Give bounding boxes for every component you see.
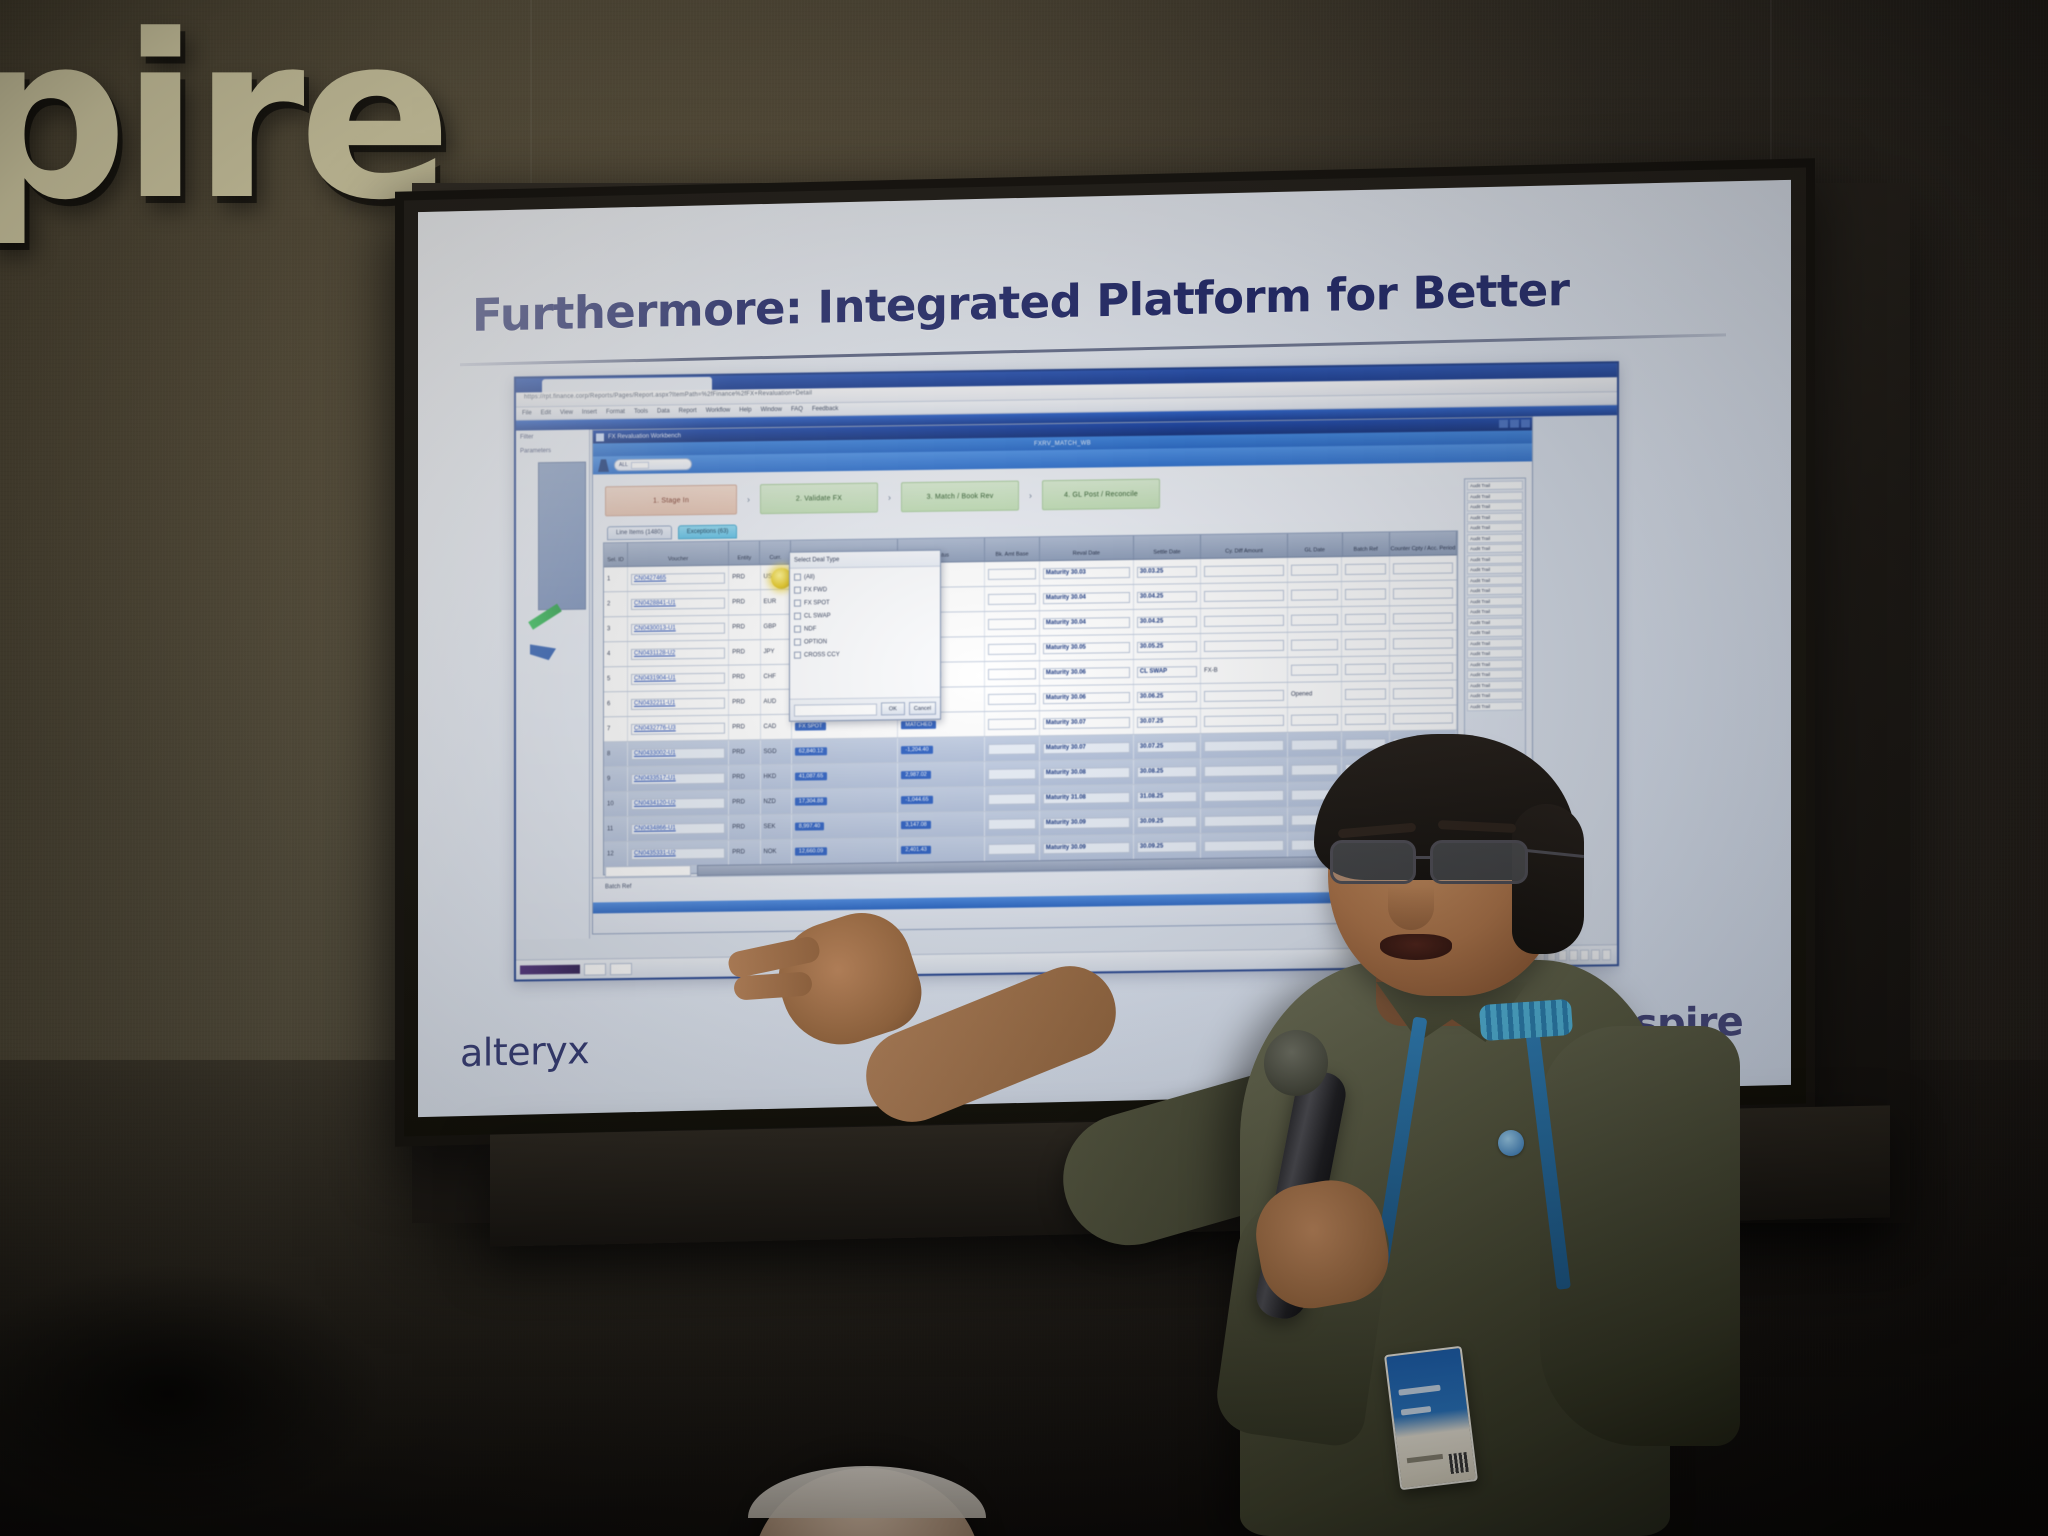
checkbox-icon[interactable]	[794, 652, 801, 659]
list-item[interactable]: Audit Trail	[1467, 533, 1523, 543]
cell-box[interactable]	[1345, 638, 1385, 650]
table-cell[interactable]: 41,087.65	[792, 763, 899, 788]
table-cell[interactable]: PRD	[729, 590, 760, 614]
table-cell[interactable]: Maturity 30.04	[1040, 610, 1134, 635]
dropdown-footer: OK Cancel	[790, 697, 940, 721]
cell-box[interactable]	[988, 618, 1036, 630]
table-cell[interactable]: PRD	[729, 740, 760, 764]
table-cell[interactable]: PRD	[729, 840, 760, 864]
voucher-link[interactable]: CN0435331-U2	[634, 850, 676, 857]
voucher-link[interactable]: CN0433517-U1	[634, 775, 676, 782]
cell-box[interactable]	[988, 718, 1036, 730]
menu-item[interactable]: Tools	[634, 409, 648, 415]
table-cell[interactable]: NOK	[761, 840, 792, 864]
table-cell[interactable]: Maturity 30.09	[1040, 835, 1134, 860]
table-cell[interactable]	[1342, 581, 1389, 606]
table-cell[interactable]: CN0433517-U1	[628, 766, 729, 791]
menu-item[interactable]: Report	[679, 408, 697, 414]
table-cell[interactable]	[1390, 630, 1457, 655]
workflow-step-1[interactable]: 1. Stage In	[605, 484, 737, 516]
cell-box[interactable]: Maturity 30.03	[1043, 567, 1130, 579]
table-cell[interactable]: Maturity 30.06	[1040, 660, 1134, 685]
table-cell[interactable]: -1,204.40	[898, 737, 985, 762]
cell-box[interactable]: CN0433002-U1	[631, 747, 725, 759]
checkbox-icon[interactable]	[794, 587, 801, 594]
cell-box[interactable]	[1204, 714, 1284, 726]
list-item[interactable]: Audit Trail	[1467, 596, 1523, 606]
checkbox-icon[interactable]	[794, 639, 801, 646]
cell-box[interactable]	[1345, 563, 1385, 575]
table-cell[interactable]: 30.04.25	[1134, 609, 1201, 634]
table-cell[interactable]: CN0428841-U1	[628, 591, 729, 616]
table-cell[interactable]: PRD	[729, 640, 760, 664]
table-cell[interactable]: 1	[604, 567, 628, 591]
table-cell[interactable]: 62,840.12	[792, 738, 899, 763]
cell-box[interactable]: Maturity 30.09	[1043, 817, 1130, 829]
cell-box[interactable]	[1393, 712, 1453, 724]
menu-item[interactable]: Format	[606, 409, 625, 415]
cell-box[interactable]	[1291, 639, 1339, 651]
cell-box[interactable]: Maturity 30.06	[1043, 692, 1130, 704]
badge-line	[1398, 1385, 1440, 1396]
dropdown-option-label: (All)	[804, 574, 815, 580]
dropdown-cancel-button[interactable]: Cancel	[909, 702, 936, 715]
cell-box[interactable]	[1393, 587, 1453, 599]
list-item[interactable]: Audit Trail	[1467, 628, 1523, 638]
menu-item[interactable]: Window	[761, 407, 782, 413]
voucher-link[interactable]: CN0432211-U1	[634, 700, 675, 707]
checkbox-icon[interactable]	[794, 574, 801, 581]
dropdown-search-input[interactable]	[794, 703, 877, 716]
presenter-nose	[1388, 886, 1434, 930]
table-cell[interactable]	[985, 561, 1040, 586]
table-cell[interactable]: 30.05.25	[1134, 634, 1201, 659]
cell-box[interactable]: CN0433517-U1	[631, 772, 725, 784]
column-header[interactable]: GL Date	[1288, 533, 1343, 557]
list-item[interactable]: Audit Trail	[1467, 575, 1523, 585]
table-cell[interactable]: Maturity 30.07	[1040, 710, 1134, 735]
cell-box[interactable]	[1291, 564, 1339, 576]
cell-value: CAD	[764, 724, 777, 730]
list-item-label: Audit Trail	[1470, 514, 1490, 519]
table-cell[interactable]	[1201, 558, 1288, 583]
list-item[interactable]: Audit Trail	[1467, 502, 1523, 512]
column-header[interactable]: Entity	[729, 541, 760, 564]
table-cell[interactable]: PRD	[729, 565, 760, 589]
cell-box[interactable]	[1291, 614, 1339, 626]
table-cell[interactable]: CAD	[761, 715, 792, 739]
table-cell[interactable]: Maturity 30.05	[1040, 635, 1134, 660]
table-cell[interactable]: Maturity 30.03	[1040, 560, 1134, 585]
eyeglasses-icon	[1326, 840, 1576, 886]
table-cell[interactable]	[985, 686, 1040, 711]
dropdown-option[interactable]: CROSS CCY	[794, 647, 936, 662]
table-cell[interactable]: 9	[604, 767, 628, 791]
cell-box[interactable]	[1345, 713, 1385, 725]
cell-box[interactable]: CN0434120-U2	[631, 797, 725, 809]
chevron-right-icon: ›	[747, 494, 750, 504]
menu-item[interactable]: File	[522, 410, 532, 416]
list-item[interactable]: Audit Trail	[1467, 670, 1523, 680]
list-item[interactable]: Audit Trail	[1467, 607, 1523, 617]
cell-box[interactable]	[988, 593, 1036, 605]
cell-box[interactable]: CN0431128-U2	[631, 647, 725, 659]
cell-box[interactable]	[988, 818, 1036, 830]
list-item[interactable]: Audit Trail	[1467, 649, 1523, 659]
column-header[interactable]: Batch Ref	[1343, 532, 1390, 556]
table-cell[interactable]: CN0434120-U2	[628, 791, 729, 816]
table-cell[interactable]: 17,304.88	[792, 788, 899, 813]
table-cell[interactable]	[1390, 680, 1457, 705]
table-cell[interactable]	[985, 661, 1040, 686]
cell-box[interactable]	[1345, 688, 1385, 700]
cell-box[interactable]	[1345, 663, 1385, 675]
cell-box[interactable]	[1291, 714, 1339, 726]
table-cell[interactable]: CHF	[761, 665, 792, 689]
table-cell[interactable]: 5	[604, 667, 628, 691]
table-cell[interactable]: 10	[604, 792, 628, 816]
table-cell[interactable]: NZD	[761, 790, 792, 814]
list-item[interactable]: Audit Trail	[1467, 680, 1523, 690]
cell-box[interactable]: CN0430013-U1	[631, 622, 725, 634]
cell-box[interactable]: CN0434866-U1	[631, 822, 725, 834]
table-cell[interactable]	[985, 811, 1040, 836]
table-cell[interactable]: JPY	[761, 640, 792, 664]
table-cell[interactable]	[985, 611, 1040, 636]
voucher-link[interactable]: CN0427465	[634, 575, 666, 581]
list-item[interactable]: Audit Trail	[1467, 659, 1523, 669]
list-item[interactable]: Audit Trail	[1467, 565, 1523, 575]
cell-value: EUR	[764, 599, 777, 605]
menu-item[interactable]: Workflow	[706, 408, 731, 414]
workflow-step-3[interactable]: 3. Match / Book Rev	[901, 481, 1019, 513]
voucher-link[interactable]: CN0432776-U3	[634, 725, 676, 732]
filter-icon[interactable]	[598, 459, 609, 472]
table-cell[interactable]: PRD	[729, 615, 760, 639]
table-cell[interactable]: CN0432776-U3	[628, 716, 729, 741]
table-cell[interactable]: 30.06.25	[1134, 684, 1201, 709]
table-cell[interactable]	[1342, 606, 1389, 631]
cell-box[interactable]	[1393, 662, 1453, 674]
batch-ref-input[interactable]	[605, 865, 691, 877]
table-cell[interactable]: CL SWAP	[1134, 659, 1201, 684]
table-cell[interactable]	[1201, 633, 1288, 658]
cell-value: 9	[607, 776, 610, 782]
cell-box[interactable]: CN0432211-U1	[631, 697, 725, 709]
cell-box[interactable]: CN0428841-U1	[631, 597, 725, 609]
table-cell[interactable]	[1288, 607, 1343, 632]
voucher-link[interactable]: CN0433002-U1	[634, 750, 676, 757]
list-item-label: Audit Trail	[1470, 661, 1490, 666]
table-cell[interactable]	[985, 711, 1040, 736]
list-item[interactable]: Audit Trail	[1467, 512, 1523, 522]
table-cell[interactable]: SGD	[761, 740, 792, 764]
cell-box[interactable]	[988, 768, 1036, 780]
table-cell[interactable]: 3,147.08	[898, 812, 985, 837]
checkbox-icon[interactable]	[794, 613, 801, 620]
dropdown-ok-button[interactable]: OK	[881, 702, 905, 715]
cell-box[interactable]	[988, 643, 1036, 655]
checkbox-icon[interactable]	[794, 626, 801, 633]
table-cell[interactable]: 6	[604, 692, 628, 716]
cell-box[interactable]: Maturity 30.04	[1043, 592, 1130, 604]
cell-box[interactable]: CN0427465	[631, 572, 725, 584]
table-cell[interactable]: FX-B	[1201, 658, 1288, 683]
list-item[interactable]: Audit Trail	[1467, 491, 1523, 501]
table-cell[interactable]: Maturity 30.06	[1040, 685, 1134, 710]
menu-item[interactable]: Help	[739, 407, 751, 413]
cell-box[interactable]	[1291, 664, 1339, 676]
cell-value: PRD	[732, 699, 745, 705]
list-item[interactable]: Audit Trail	[1467, 544, 1523, 554]
table-cell[interactable]: CN0431904-U1	[628, 666, 729, 691]
cell-box[interactable]	[988, 743, 1036, 755]
table-cell[interactable]: 7	[604, 717, 628, 741]
cell-box[interactable]: Maturity 31.08	[1043, 792, 1130, 804]
cell-box[interactable]	[988, 668, 1036, 680]
menu-item[interactable]: Data	[657, 408, 670, 414]
cell-box[interactable]: CN0435331-U2	[631, 847, 725, 859]
status-badge: 62,840.12	[795, 747, 827, 755]
menu-item[interactable]: View	[560, 410, 573, 416]
table-cell[interactable]	[1342, 706, 1389, 731]
table-cell[interactable]	[985, 586, 1040, 611]
table-cell[interactable]: 2,401.43	[898, 837, 985, 862]
cell-box[interactable]: CN0431904-U1	[631, 672, 725, 684]
column-header[interactable]: Voucher	[628, 542, 729, 566]
column-header[interactable]: Reval Date	[1040, 536, 1134, 560]
table-cell[interactable]: SEK	[761, 815, 792, 839]
cell-value: 7	[607, 726, 610, 732]
table-cell[interactable]	[985, 761, 1040, 786]
table-cell[interactable]: Maturity 30.04	[1040, 585, 1134, 610]
table-cell[interactable]	[985, 786, 1040, 811]
table-cell[interactable]: CN0435331-U2	[628, 841, 729, 866]
cell-box[interactable]	[1204, 614, 1284, 626]
table-cell[interactable]: PRD	[729, 715, 760, 739]
table-cell[interactable]: HKD	[761, 765, 792, 789]
close-icon[interactable]	[1521, 419, 1530, 427]
list-item[interactable]: Audit Trail	[1467, 701, 1523, 711]
table-cell[interactable]: Maturity 31.08	[1040, 785, 1134, 810]
cell-box[interactable]	[988, 793, 1036, 805]
table-cell[interactable]: CN0431128-U2	[628, 641, 729, 666]
table-cell[interactable]: 30.03.25	[1134, 559, 1201, 584]
cell-box[interactable]: Maturity 30.06	[1043, 667, 1130, 679]
side-panel-block[interactable]	[538, 462, 586, 611]
table-cell[interactable]: -1,044.65	[898, 787, 985, 812]
table-cell[interactable]	[1288, 657, 1343, 682]
cell-box[interactable]	[1345, 613, 1385, 625]
table-cell[interactable]: EUR	[761, 590, 792, 614]
table-cell[interactable]: GBP	[761, 615, 792, 639]
table-cell[interactable]: 30.04.25	[1134, 584, 1201, 609]
table-cell[interactable]: PRD	[729, 790, 760, 814]
cell-box[interactable]: Maturity 30.08	[1043, 767, 1130, 779]
minimize-icon[interactable]	[1499, 420, 1508, 428]
table-cell[interactable]: CN0434866-U1	[628, 816, 729, 841]
cell-box[interactable]	[1393, 562, 1453, 574]
list-item[interactable]: Audit Trail	[1467, 691, 1523, 701]
cell-box[interactable]: 30.04.25	[1137, 616, 1197, 628]
table-cell[interactable]: 11	[604, 817, 628, 841]
cell-box[interactable]: Maturity 30.07	[1043, 717, 1130, 729]
voucher-link[interactable]: CN0431128-U2	[634, 650, 675, 657]
voucher-link[interactable]: CN0430013-U1	[634, 625, 676, 632]
column-header[interactable]: Bk. Amt Base	[985, 537, 1040, 561]
table-cell[interactable]: CN0432211-U1	[628, 691, 729, 716]
tab-line-items[interactable]: Line Items (1480)	[607, 525, 672, 540]
column-header[interactable]: Cy. Diff Amount	[1201, 534, 1288, 558]
tab-exceptions[interactable]: Exceptions (63)	[678, 524, 738, 539]
table-cell[interactable]: PRD	[729, 765, 760, 789]
table-cell[interactable]	[1390, 705, 1457, 730]
cell-box[interactable]: CN0432776-U3	[631, 722, 725, 734]
voucher-link[interactable]: CN0431904-U1	[634, 675, 676, 682]
cell-box[interactable]	[1393, 637, 1453, 649]
workflow-step-4[interactable]: 4. GL Post / Reconcile	[1042, 479, 1160, 511]
cell-box[interactable]: 30.06.25	[1137, 691, 1197, 703]
table-cell[interactable]	[1288, 557, 1343, 582]
table-cell[interactable]: Maturity 30.07	[1040, 735, 1134, 760]
scope-combobox[interactable]: ALL	[614, 458, 692, 471]
table-cell[interactable]: 8	[604, 742, 628, 766]
cell-box[interactable]	[1393, 612, 1453, 624]
list-item[interactable]: Audit Trail	[1467, 554, 1523, 564]
cell-box[interactable]	[988, 568, 1036, 580]
status-badge: 2,987.02	[901, 771, 930, 779]
table-cell[interactable]	[1342, 681, 1389, 706]
table-cell[interactable]: PRD	[729, 690, 760, 714]
table-cell[interactable]	[1342, 631, 1389, 656]
deal-type-dropdown[interactable]: Select Deal Type (All)FX FWDFX SPOTCL SW…	[789, 550, 941, 722]
list-item[interactable]: Audit Trail	[1467, 523, 1523, 533]
table-cell[interactable]	[1288, 582, 1343, 607]
table-cell[interactable]: Maturity 30.09	[1040, 810, 1134, 835]
taskbar-app-icon[interactable]	[584, 963, 606, 975]
column-header[interactable]: Settle Date	[1134, 535, 1201, 559]
status-badge: MATCHED	[901, 721, 936, 729]
cell-box[interactable]	[1204, 589, 1284, 601]
table-cell[interactable]: 3	[604, 617, 628, 641]
table-cell[interactable]	[1390, 555, 1457, 580]
table-cell[interactable]	[1342, 556, 1389, 581]
list-item[interactable]: Audit Trail	[1467, 617, 1523, 627]
slide-title: Furthermore: Integrated Platform for Bet…	[472, 263, 1569, 342]
menu-item[interactable]: Edit	[541, 410, 551, 416]
table-cell[interactable]: 12,660.09	[792, 838, 899, 863]
status-badge: 2,401.43	[901, 846, 930, 854]
cell-box[interactable]	[1204, 564, 1284, 576]
table-cell[interactable]: 12	[604, 842, 628, 866]
cell-box[interactable]	[988, 843, 1036, 855]
eyeglass-lens	[1330, 840, 1416, 884]
table-cell[interactable]: CN0427465	[628, 566, 729, 591]
checkbox-icon[interactable]	[794, 600, 801, 607]
maximize-icon[interactable]	[1510, 420, 1519, 428]
cell-box[interactable]: CL SWAP	[1137, 666, 1197, 678]
dropdown-option-label: NDF	[804, 626, 816, 632]
chevron-down-icon[interactable]	[631, 461, 649, 468]
list-item[interactable]: Audit Trail	[1467, 481, 1523, 491]
table-cell[interactable]	[1390, 655, 1457, 680]
column-header[interactable]: Counter Cpty / Acc. Period	[1390, 531, 1457, 555]
table-cell[interactable]	[985, 636, 1040, 661]
table-cell[interactable]	[1288, 707, 1343, 732]
column-header[interactable]: Sel. ID	[604, 543, 628, 566]
start-button[interactable]	[520, 965, 580, 975]
cell-box[interactable]: 30.07.25	[1137, 716, 1197, 728]
taskbar-app-icon[interactable]	[610, 962, 632, 974]
table-cell[interactable]	[1390, 580, 1457, 605]
dropdown-option-list[interactable]: (All)FX FWDFX SPOTCL SWAPNDFOPTIONCROSS …	[790, 567, 940, 699]
table-cell[interactable]: PRD	[729, 665, 760, 689]
voucher-link[interactable]: CN0434866-U1	[634, 825, 676, 832]
menu-item[interactable]: Feedback	[812, 406, 838, 412]
dropdown-option-label: CROSS CCY	[804, 652, 840, 658]
table-cell[interactable]: PRD	[729, 815, 760, 839]
list-item-label: Audit Trail	[1470, 619, 1490, 624]
table-cell[interactable]	[1201, 583, 1288, 608]
column-header[interactable]: Curr.	[760, 541, 791, 564]
cell-box[interactable]: 30.05.25	[1137, 641, 1197, 653]
table-cell[interactable]	[1390, 605, 1457, 630]
table-cell[interactable]	[985, 736, 1040, 761]
menu-item[interactable]: Insert	[582, 409, 597, 415]
cell-value: 30.04.25	[1140, 619, 1163, 625]
cell-box[interactable]	[1291, 589, 1339, 601]
cell-box[interactable]	[1345, 588, 1385, 600]
list-item[interactable]: Audit Trail	[1467, 586, 1523, 596]
table-cell[interactable]: AUD	[761, 690, 792, 714]
voucher-link[interactable]: CN0434120-U2	[634, 800, 676, 807]
badge-line	[1401, 1406, 1432, 1416]
menu-item[interactable]: FAQ	[791, 407, 803, 413]
table-cell[interactable]: Opened	[1288, 682, 1343, 707]
cell-box[interactable]	[1393, 687, 1453, 699]
table-cell[interactable]	[1342, 656, 1389, 681]
cell-box[interactable]: Maturity 30.04	[1043, 617, 1130, 629]
table-cell[interactable]: 4	[604, 642, 628, 666]
cell-box[interactable]: Maturity 30.07	[1043, 742, 1130, 754]
table-cell[interactable]	[1288, 632, 1343, 657]
alteryx-logo: alteryx	[460, 1028, 589, 1075]
table-cell[interactable]: 8,997.40	[792, 813, 899, 838]
workflow-step-2[interactable]: 2. Validate FX	[760, 483, 878, 515]
table-cell[interactable]: Maturity 30.08	[1040, 760, 1134, 785]
cell-box[interactable]: 30.04.25	[1137, 591, 1197, 603]
cell-value: 31.08.25	[1140, 794, 1163, 800]
cell-box[interactable]	[988, 693, 1036, 705]
cell-box[interactable]	[1204, 639, 1284, 651]
table-cell[interactable]: CN0433002-U1	[628, 741, 729, 766]
cell-box[interactable]: Maturity 30.05	[1043, 642, 1130, 654]
voucher-link[interactable]: CN0428841-U1	[634, 600, 676, 607]
table-cell[interactable]: 2	[604, 592, 628, 616]
cell-box[interactable]: Maturity 30.09	[1043, 842, 1130, 854]
table-cell[interactable]: 2,987.02	[898, 762, 985, 787]
cell-value: PRD	[732, 624, 745, 630]
table-cell[interactable]	[985, 836, 1040, 861]
table-cell[interactable]	[1201, 683, 1288, 708]
window-controls[interactable]	[1499, 419, 1530, 427]
table-cell[interactable]	[1201, 608, 1288, 633]
cell-box[interactable]: 30.03.25	[1137, 566, 1197, 578]
cell-box[interactable]	[1204, 689, 1284, 701]
table-cell[interactable]: CN0430013-U1	[628, 616, 729, 641]
list-item[interactable]: Audit Trail	[1467, 638, 1523, 648]
list-item-label: Audit Trail	[1470, 504, 1490, 509]
